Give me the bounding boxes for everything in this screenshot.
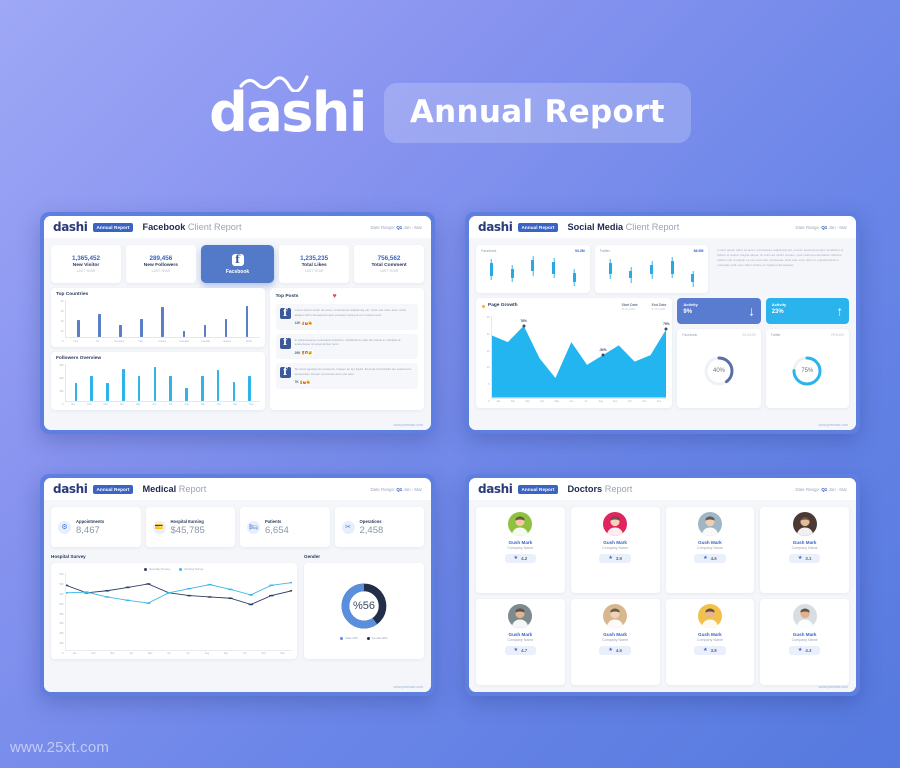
- scissors-icon: ✂: [342, 521, 355, 534]
- doctor-company: Company Name: [697, 638, 723, 642]
- doctor-name: Gush Mark: [603, 632, 627, 637]
- post-text: Sit amet egestas dui posuere, integer ac…: [295, 367, 414, 377]
- x-tick: Sep: [608, 400, 623, 403]
- line-series: [65, 573, 292, 651]
- doctor-name: Gush Mark: [698, 632, 722, 637]
- x-tick: Australia: [173, 340, 195, 343]
- avatar: [698, 604, 722, 628]
- bar: [233, 382, 236, 401]
- rating-badge[interactable]: ★3.9: [599, 554, 631, 563]
- slide-header: dashi Annual Report Medical Report Date …: [44, 478, 431, 500]
- doctor-card[interactable]: Gush MarkCompany Name★3.1: [760, 507, 849, 593]
- reaction-row: 7K👍♥😮: [295, 380, 414, 385]
- reaction-emojis: 👍♥😮: [302, 321, 312, 326]
- chart-title-gender: Gender: [304, 554, 424, 559]
- bar: [217, 370, 220, 401]
- doctor-company: Company Name: [602, 638, 628, 642]
- doctor-company: Company Name: [602, 546, 628, 550]
- x-tick: Mar: [103, 652, 122, 655]
- chart-top-countries[interactable]: Top Countries 403020100 UsaUkGermanyItal…: [51, 288, 265, 347]
- x-tick: Feb: [84, 652, 103, 655]
- kpi-label: Hospital Earning: [171, 519, 205, 524]
- x-tick: Jun: [146, 403, 162, 406]
- doctor-company: Company Name: [697, 546, 723, 550]
- candle: [531, 256, 534, 289]
- bar: [161, 307, 164, 337]
- bar: [138, 376, 141, 400]
- bar: [77, 320, 80, 337]
- kpi-label: Total Comment: [371, 263, 406, 268]
- x-tick: Oct: [211, 403, 227, 406]
- x-tick: Aug: [197, 652, 216, 655]
- doctor-name: Gush Mark: [793, 632, 817, 637]
- bar: [140, 319, 143, 337]
- rating-badge[interactable]: ★4.7: [505, 646, 537, 655]
- star-icon: ★: [798, 648, 802, 653]
- rating-value: 4.7: [521, 648, 527, 653]
- data-point: [601, 354, 604, 357]
- bar: [106, 383, 109, 401]
- candle-series: [481, 253, 585, 289]
- x-axis-labels: JanFebMarAprMayJunJulAugSepOctNovDec: [65, 651, 292, 656]
- candle: [671, 256, 674, 289]
- dashi-logo-small: dashi: [53, 483, 88, 495]
- facebook-icon: f: [280, 338, 291, 349]
- activity-value: 23%: [772, 309, 843, 315]
- reaction-row: 12K👍♥😮: [295, 321, 414, 326]
- kpi-value: 756,562: [378, 255, 401, 262]
- x-tick: Dec: [273, 652, 292, 655]
- bar: [98, 314, 101, 337]
- bullet-icon: [482, 305, 485, 308]
- x-tick: Dec: [243, 403, 259, 406]
- rating-value: 4.6: [711, 556, 717, 561]
- arrow-down-icon: ↓: [748, 305, 755, 318]
- star-icon: ★: [608, 556, 612, 561]
- x-tick: Uk: [87, 340, 109, 343]
- x-tick: Italy: [130, 340, 152, 343]
- arrow-up-icon: ↑: [837, 305, 844, 318]
- x-tick: Germany: [108, 340, 130, 343]
- x-tick: Aug: [179, 403, 195, 406]
- chart-title: Followers Overview: [56, 356, 260, 361]
- doctor-card-grid: Gush MarkCompany Name★4.2Gush MarkCompan…: [476, 507, 849, 685]
- x-tick: Sep: [216, 652, 235, 655]
- x-tick: Jan: [65, 652, 84, 655]
- end-date-value: 01.03.2021: [652, 307, 667, 311]
- dashi-logo-small: dashi: [53, 221, 88, 233]
- x-tick: Nov: [227, 403, 243, 406]
- data-label: 79%: [663, 322, 669, 326]
- bar: [201, 376, 204, 401]
- x-tick: May: [549, 400, 564, 403]
- legend-item: Male 40%: [340, 636, 357, 640]
- kpi-operations[interactable]: ✂Operations2,458: [335, 507, 425, 547]
- reaction-row: 29K👍♥😮: [295, 350, 414, 355]
- star-icon: ★: [703, 556, 707, 561]
- slide-header: dashi Annual Report Facebook Client Repo…: [44, 216, 431, 238]
- date-range: Date Range: Q1 Jan - Mar: [795, 487, 847, 492]
- doctor-card[interactable]: Gush MarkCompany Name★4.7: [476, 599, 565, 685]
- x-tick: Jun: [564, 400, 579, 403]
- chart-legend: New Day SurveyOld Day Survey: [56, 567, 292, 571]
- mini-chart-twitter[interactable]: Twitter86.5M: [595, 245, 709, 293]
- avatar: [793, 512, 817, 536]
- facebook-icon: f: [280, 308, 291, 319]
- x-tick: Mar: [520, 400, 535, 403]
- medical-kpi-row: ⚙Appointments8,467💳Hospital Earning$45,7…: [51, 507, 424, 547]
- watermark: www.25xt.com: [10, 739, 109, 756]
- activity-label: Activity: [683, 302, 754, 307]
- annual-report-badge: Annual Report: [518, 223, 559, 232]
- annual-report-badge: Annual Report: [93, 485, 134, 494]
- doctor-card[interactable]: Gush MarkCompany Name★4.5: [571, 599, 660, 685]
- slide-title: Medical Report: [142, 484, 206, 494]
- gauge-twitter[interactable]: Twitter75%/100 75%: [766, 329, 849, 408]
- slide-doctors-report[interactable]: dashi Annual Report Doctors Report Date …: [465, 474, 860, 696]
- slide-footer-url[interactable]: www.premast.com: [819, 423, 848, 427]
- x-tick: France: [152, 340, 174, 343]
- gauge-percent: 75%: [801, 368, 813, 374]
- x-tick: Oct: [622, 400, 637, 403]
- star-icon: ★: [514, 648, 518, 653]
- donut-ring: %56: [340, 582, 388, 630]
- kpi-value: 2,458: [360, 525, 384, 536]
- bar: [154, 367, 157, 401]
- gauge-facebook[interactable]: Facebook94.2/100 40%: [677, 329, 760, 408]
- candle: [650, 256, 653, 289]
- post-item[interactable]: fSit amet egestas dui posuere, integer a…: [276, 363, 418, 389]
- slide-header: dashi Annual Report Doctors Report Date …: [469, 478, 856, 500]
- slide-title: Facebook Client Report: [142, 222, 241, 232]
- bar: [248, 376, 251, 400]
- legend-item: New Day Survey: [144, 567, 170, 571]
- bar: [225, 319, 228, 338]
- date-range: Date Range: Q1 Jan - Mar: [370, 487, 422, 492]
- doctor-name: Gush Mark: [698, 540, 722, 545]
- annual-report-badge: Annual Report: [518, 485, 559, 494]
- slide-footer-url[interactable]: www.premast.com: [394, 423, 423, 427]
- page-title-block: dashi Annual Report: [0, 82, 900, 144]
- x-tick: Jul: [579, 400, 594, 403]
- rating-badge[interactable]: ★3.8: [694, 646, 726, 655]
- donut-center-label: %56: [353, 600, 375, 612]
- candle: [609, 256, 612, 289]
- x-axis-labels: UsaUkGermanyItalyFranceAustraliaCanadaGr…: [65, 338, 260, 343]
- candle: [629, 256, 632, 289]
- rating-badge[interactable]: ★4.2: [505, 554, 537, 563]
- reaction-count: 12K: [295, 321, 301, 325]
- kpi-label: Appointments: [76, 519, 104, 524]
- kpi-value: 1,235,235: [300, 255, 328, 262]
- kpi-value: 6,654: [265, 525, 289, 536]
- star-icon: ★: [798, 556, 802, 561]
- doctor-name: Gush Mark: [509, 540, 533, 545]
- kpi-appointments[interactable]: ⚙Appointments8,467: [51, 507, 141, 547]
- facebook-icon: f: [280, 367, 291, 378]
- kpi-hospital-earning[interactable]: 💳Hospital Earning$45,785: [146, 507, 236, 547]
- bar: [246, 306, 249, 337]
- chart-followers-overview[interactable]: Followers Overview 3002001000 JanFebMarA…: [51, 352, 265, 411]
- doctor-card[interactable]: Gush MarkCompany Name★3.9: [571, 507, 660, 593]
- avatar: [603, 604, 627, 628]
- mini-chart-facebook[interactable]: Facebook94.2M: [476, 245, 590, 293]
- chart-legend: Male 40%Female 60%: [340, 636, 387, 640]
- x-tick: Canada: [195, 340, 217, 343]
- annual-report-badge: Annual Report: [93, 223, 134, 232]
- rating-badge[interactable]: ★4.5: [599, 646, 631, 655]
- x-tick: China: [238, 340, 260, 343]
- slide-title: Social Media Client Report: [567, 222, 679, 232]
- date-range: Date Range: Q1 Jan - Mar: [795, 225, 847, 230]
- bar: [122, 369, 125, 400]
- bar: [204, 325, 207, 337]
- bar: [183, 331, 186, 337]
- data-label: 76%: [520, 319, 526, 323]
- doctor-card[interactable]: Gush MarkCompany Name★4.3: [760, 599, 849, 685]
- doctor-card[interactable]: Gush MarkCompany Name★4.6: [666, 507, 755, 593]
- x-tick: Usa: [65, 340, 87, 343]
- x-tick: Jul: [162, 403, 178, 406]
- bar: [169, 376, 172, 400]
- candle-series: [600, 253, 704, 289]
- kpi-value: 8,467: [76, 525, 104, 536]
- doctor-name: Gush Mark: [793, 540, 817, 545]
- kpi-new-followers[interactable]: 289,456 New Followers LAST YEAR: [126, 245, 196, 283]
- x-tick: Oct: [235, 652, 254, 655]
- chart-gender-donut[interactable]: %56 Male 40%Female 60%: [304, 563, 424, 659]
- top-posts-panel[interactable]: Top Posts ♥ fLorem ipsum dolor sit amet,…: [270, 288, 424, 410]
- heart-icon: ♥: [332, 293, 336, 300]
- post-text: Lorem ipsum dolor sit amet, consectetur …: [295, 308, 414, 318]
- bar-series: [65, 300, 260, 338]
- data-label: -50%: [599, 348, 606, 352]
- rating-badge[interactable]: ★4.3: [789, 646, 821, 655]
- y-axis-labels: 403020100: [56, 300, 65, 343]
- candle: [691, 256, 694, 289]
- activity-card-down[interactable]: Activity 9% ↓: [677, 298, 760, 324]
- money-icon: 💳: [153, 521, 166, 534]
- kpi-value: $45,785: [171, 525, 205, 536]
- dashi-logo-small: dashi: [478, 483, 513, 495]
- dashi-logo-small: dashi: [478, 221, 513, 233]
- slide-footer-url[interactable]: www.premast.com: [819, 685, 848, 689]
- rating-value: 3.9: [616, 556, 622, 561]
- kpi-sub: LAST YEAR: [77, 269, 96, 273]
- x-tick: Apr: [114, 403, 130, 406]
- facebook-icon: f: [232, 254, 244, 266]
- kpi-label: New Visitor: [73, 263, 100, 268]
- data-point: [522, 324, 525, 327]
- star-icon: ★: [703, 648, 707, 653]
- slide-title: Doctors Report: [567, 484, 632, 494]
- kpi-label: Patients: [265, 519, 289, 524]
- bar-series: [65, 364, 260, 402]
- slide-facebook-client-report[interactable]: dashi Annual Report Facebook Client Repo…: [40, 212, 435, 434]
- slide-social-media-client-report[interactable]: dashi Annual Report Social Media Client …: [465, 212, 860, 434]
- rating-value: 4.2: [521, 556, 527, 561]
- candle: [573, 256, 576, 289]
- doctor-card[interactable]: Gush MarkCompany Name★4.2: [476, 507, 565, 593]
- chart-hospital-survey[interactable]: New Day SurveyOld Day Survey 54050045040…: [51, 563, 297, 659]
- avatar: [603, 512, 627, 536]
- x-tick: Jan: [491, 400, 506, 403]
- avatar: [698, 512, 722, 536]
- start-date-value: 01.01.2021: [622, 307, 638, 311]
- x-tick: Aug: [593, 400, 608, 403]
- doctor-name: Gush Mark: [509, 632, 533, 637]
- rating-value: 3.8: [711, 648, 717, 653]
- kpi-new-visitor[interactable]: 1,365,452 New Visitor LAST YEAR: [51, 245, 121, 283]
- gauge-percent: 40%: [713, 368, 725, 374]
- kpi-sub: LAST YEAR: [152, 269, 171, 273]
- chart-title: Page Growth: [488, 303, 518, 308]
- reaction-count: 29K: [295, 351, 301, 355]
- kpi-label: Operations: [360, 519, 384, 524]
- y-axis-labels: 5405004504003503002502000: [56, 573, 65, 655]
- avatar: [508, 604, 532, 628]
- slide-footer-url[interactable]: www.premast.com: [394, 685, 423, 689]
- gauge-ring: 40%: [682, 337, 755, 404]
- post-list: fLorem ipsum dolor sit amet, consectetur…: [276, 304, 418, 389]
- date-range: Date Range: Q1 Jan - Mar: [370, 225, 422, 230]
- doctor-company: Company Name: [792, 638, 818, 642]
- activity-card-up[interactable]: Activity 23% ↑: [766, 298, 849, 324]
- reaction-emojis: 👍♥😮: [301, 380, 311, 385]
- avatar: [508, 512, 532, 536]
- x-axis-labels: JanFebMarAprMayJunJulAugSepOctNovDec: [491, 399, 666, 404]
- dashi-logo: dashi: [209, 86, 366, 140]
- bar: [90, 376, 93, 401]
- activity-label: Activity: [772, 302, 843, 307]
- post-text: In pellentesque consequat interdum. Vest…: [295, 338, 414, 348]
- bar: [119, 325, 122, 337]
- area-series: 76%-50%79%: [491, 316, 666, 399]
- x-tick: Apr: [122, 652, 141, 655]
- data-point: [665, 328, 668, 331]
- x-tick: Sep: [195, 403, 211, 406]
- kpi-total-comment[interactable]: 756,562 Total Comment LAST YEAR: [354, 245, 424, 283]
- chart-page-growth[interactable]: Page Growth Start Date01.01.2021 End Dat…: [476, 298, 672, 408]
- doctor-card[interactable]: Gush MarkCompany Name★3.8: [666, 599, 755, 685]
- rating-value: 4.3: [805, 648, 811, 653]
- gauge-ring: 75%: [771, 337, 844, 404]
- chart-title: Top Countries: [56, 292, 260, 297]
- x-tick: Feb: [506, 400, 521, 403]
- candle: [552, 256, 555, 289]
- description-text: Lorem ipsum dolor sit amet, consectetur …: [713, 245, 849, 293]
- kpi-label: Total Likes: [302, 263, 327, 268]
- x-tick: Greece: [216, 340, 238, 343]
- kpi-value: 289,456: [149, 255, 172, 262]
- x-tick: Dec: [652, 400, 667, 403]
- x-tick: Jul: [179, 652, 198, 655]
- kpi-total-likes[interactable]: 1,235,235 Total Likes LAST YEAR: [279, 245, 349, 283]
- reaction-emojis: 👍♥😮: [302, 350, 312, 355]
- candle: [511, 256, 514, 289]
- panel-title: Top Posts: [276, 294, 299, 299]
- x-axis-labels: JanFebMarAprMayJunJulAugSepOctNovDec: [65, 402, 260, 407]
- slide-medical-report[interactable]: dashi Annual Report Medical Report Date …: [40, 474, 435, 696]
- chart-title-hospital-survey: Hospital Survey: [51, 554, 297, 559]
- y-axis-labels: 3002001000: [56, 364, 65, 407]
- x-tick: Feb: [81, 403, 97, 406]
- legend-item: Old Day Survey: [179, 567, 204, 571]
- x-tick: Mar: [97, 403, 113, 406]
- avatar: [793, 604, 817, 628]
- x-tick: Nov: [254, 652, 273, 655]
- kpi-value: 1,365,452: [72, 255, 100, 262]
- star-icon: ★: [514, 556, 518, 561]
- kpi-sub: LAST YEAR: [305, 269, 324, 273]
- y-axis-labels: 2520151050: [482, 316, 491, 403]
- facebook-label: Facebook: [226, 269, 249, 275]
- candle: [490, 256, 493, 289]
- x-tick: May: [141, 652, 160, 655]
- star-icon: ★: [608, 648, 612, 653]
- facebook-highlight-card[interactable]: f Facebook: [201, 245, 274, 283]
- activity-value: 9%: [683, 309, 754, 315]
- x-tick: Jan: [65, 403, 81, 406]
- doctor-company: Company Name: [507, 638, 533, 642]
- doctor-name: Gush Mark: [603, 540, 627, 545]
- rating-badge[interactable]: ★4.6: [694, 554, 726, 563]
- gear-icon: ⚙: [58, 521, 71, 534]
- post-item[interactable]: fIn pellentesque consequat interdum. Ves…: [276, 334, 418, 360]
- x-tick: Nov: [637, 400, 652, 403]
- doctor-company: Company Name: [507, 546, 533, 550]
- doctor-company: Company Name: [792, 546, 818, 550]
- bar: [75, 383, 78, 400]
- annual-report-pill: Annual Report: [384, 83, 691, 143]
- kpi-sub: LAST YEAR: [380, 269, 399, 273]
- x-tick: Jun: [160, 652, 179, 655]
- post-item[interactable]: fLorem ipsum dolor sit amet, consectetur…: [276, 304, 418, 330]
- x-tick: Apr: [535, 400, 550, 403]
- rating-value: 3.1: [805, 556, 811, 561]
- kpi-label: New Followers: [144, 263, 178, 268]
- bed-icon: 🛏: [247, 521, 260, 534]
- slide-header: dashi Annual Report Social Media Client …: [469, 216, 856, 238]
- squiggle-icon: [239, 74, 311, 92]
- x-tick: May: [130, 403, 146, 406]
- rating-value: 4.5: [616, 648, 622, 653]
- legend-item: Female 60%: [367, 636, 388, 640]
- reaction-count: 7K: [295, 380, 299, 384]
- kpi-row: 1,365,452 New Visitor LAST YEAR 289,456 …: [51, 245, 424, 283]
- rating-badge[interactable]: ★3.1: [789, 554, 821, 563]
- bar: [185, 388, 188, 401]
- kpi-patients[interactable]: 🛏Patients6,654: [240, 507, 330, 547]
